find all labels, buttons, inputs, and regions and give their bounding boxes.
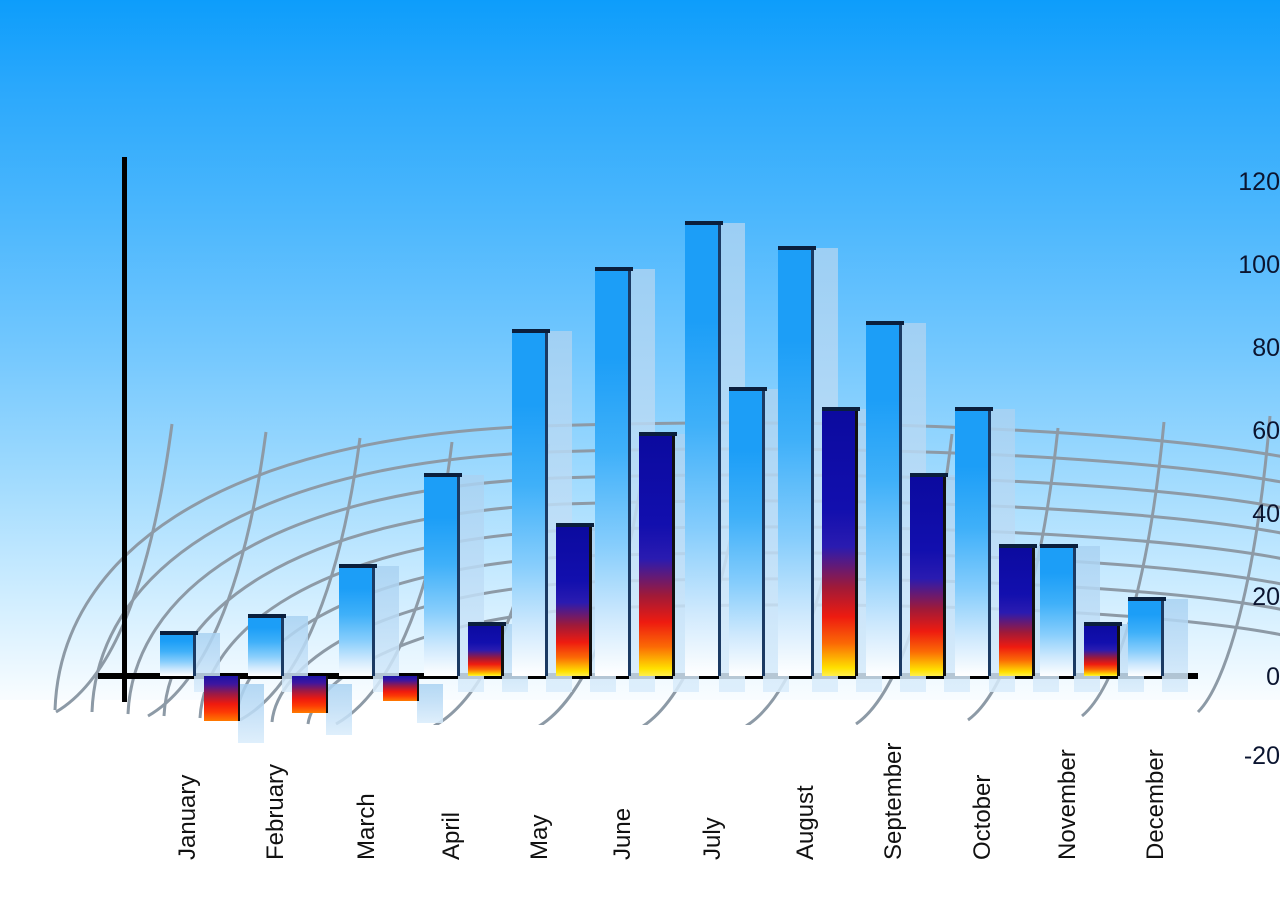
y-tick-0: 0: [1172, 663, 1280, 692]
bar-top-edge-series2: [822, 407, 860, 411]
bar-series2: [999, 544, 1035, 676]
bar-top-edge-series1: [685, 221, 723, 225]
x-label-august: August: [792, 785, 820, 860]
bar-series1: [778, 246, 814, 676]
bar-series1: [866, 321, 902, 676]
bar-side-series1: [373, 566, 399, 692]
bar-side-series1: [1162, 599, 1188, 692]
bar-top-edge-series1: [512, 329, 550, 333]
bar-series2: [468, 622, 504, 676]
bar-series2: [729, 387, 765, 676]
bar-top-edge-series1: [1040, 544, 1078, 548]
y-axis-line: [122, 157, 127, 702]
x-label-december: December: [1142, 749, 1170, 860]
x-label-january: January: [174, 775, 202, 860]
y-tick-80: 80: [1172, 334, 1280, 363]
bar-series1: [424, 473, 460, 676]
x-label-november: November: [1054, 749, 1082, 860]
bar-series1: [595, 267, 631, 676]
bar-chart: 120 100 80 60 40 20 0 -20 JanuaryFebruar…: [0, 0, 1280, 905]
x-label-september: September: [880, 743, 908, 860]
bar-series1: [685, 221, 721, 676]
bar-top-edge-series2: [556, 523, 594, 527]
bar-top-edge-series2: [910, 473, 948, 477]
x-label-april: April: [438, 812, 466, 860]
bar-series2: [292, 676, 328, 713]
bar-top-edge-series2: [729, 387, 767, 391]
bar-series1: [160, 631, 196, 676]
bar-side-series2: [326, 684, 352, 735]
bar-series1: [955, 407, 991, 676]
bar-top-edge-series1: [1128, 597, 1166, 601]
y-tick-60: 60: [1172, 417, 1280, 446]
x-label-october: October: [969, 775, 997, 860]
bar-series1: [248, 614, 284, 676]
bar-top-edge-series1: [955, 407, 993, 411]
bar-top-edge-series2: [1084, 622, 1122, 626]
bar-series2: [383, 676, 419, 701]
bar-series1: [339, 564, 375, 676]
x-label-february: February: [262, 764, 290, 860]
bar-top-edge-series1: [595, 267, 633, 271]
bar-series2: [822, 407, 858, 676]
y-tick-40: 40: [1172, 500, 1280, 529]
bar-top-edge-series2: [639, 432, 677, 436]
y-tick-100: 100: [1172, 251, 1280, 280]
bar-top-edge-series1: [248, 614, 286, 618]
bar-top-edge-series1: [866, 321, 904, 325]
x-label-may: May: [526, 815, 554, 860]
bar-series1: [512, 329, 548, 676]
bar-series2: [910, 473, 946, 676]
bar-side-series2: [417, 684, 443, 723]
bar-top-edge-series2: [999, 544, 1037, 548]
y-tick-minus20: -20: [1172, 742, 1280, 771]
bar-series2: [204, 676, 240, 721]
x-label-june: June: [609, 808, 637, 860]
x-label-july: July: [699, 817, 727, 860]
bar-top-edge-series1: [160, 631, 198, 635]
bar-series2: [556, 523, 592, 676]
x-label-march: March: [353, 793, 381, 860]
bar-top-edge-series1: [778, 246, 816, 250]
bar-series2: [639, 432, 675, 676]
plot-area: 120 100 80 60 40 20 0 -20 JanuaryFebruar…: [0, 0, 1280, 905]
bar-top-edge-series1: [339, 564, 377, 568]
y-tick-20: 20: [1172, 583, 1280, 612]
bar-series1: [1128, 597, 1164, 676]
bar-side-series2: [238, 684, 264, 743]
y-tick-120: 120: [1172, 168, 1280, 197]
bar-top-edge-series2: [468, 622, 506, 626]
bar-series1: [1040, 544, 1076, 676]
bar-top-edge-series1: [424, 473, 462, 477]
bar-series2: [1084, 622, 1120, 676]
